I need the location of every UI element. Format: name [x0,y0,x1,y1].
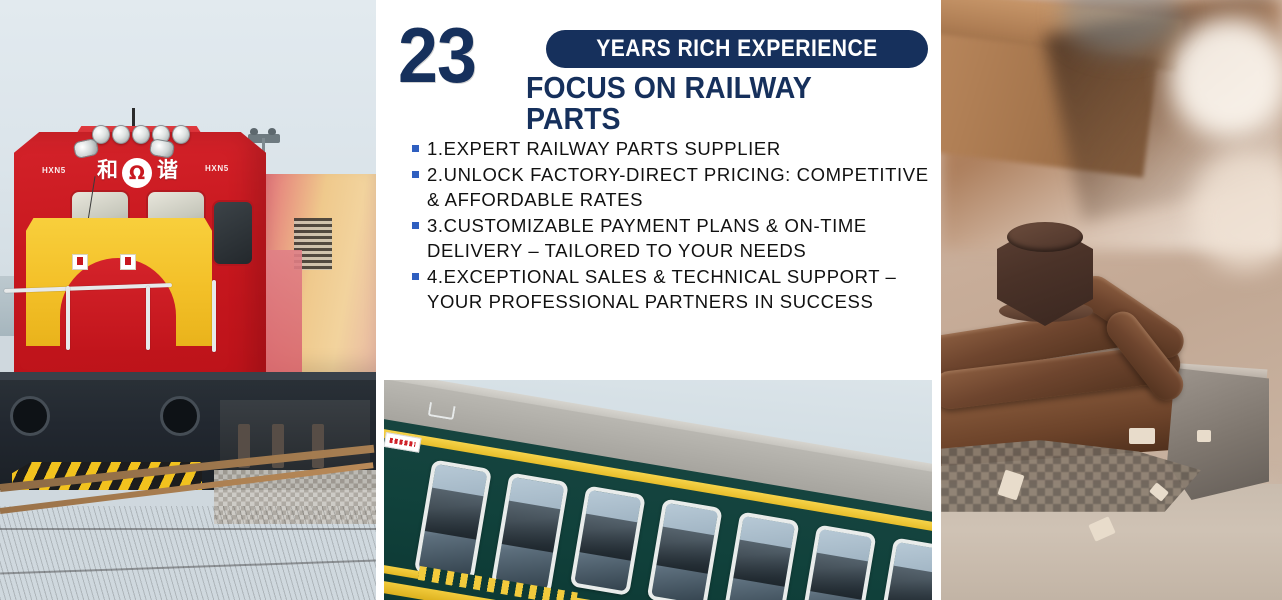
page-subtitle: FOCUS ON RAILWAY PARTS [526,72,894,134]
carriage-window [491,472,569,594]
green-passenger-carriage-photo [384,380,932,600]
unit-number-right: HXN5 [205,164,229,173]
headlight-icon [172,125,190,144]
carriage-window [724,511,800,600]
headlight-icon [112,125,130,144]
handrail-vertical-left [66,286,70,350]
list-item-label: 2.UNLOCK FACTORY-DIRECT PRICING: COMPETI… [427,162,934,212]
list-item: 1.EXPERT RAILWAY PARTS SUPPLIER [412,136,934,161]
ballast-stones [941,440,1201,512]
warning-decal-right [120,254,136,270]
livery-chinese-char-right: 谐 [157,160,178,181]
headlight-cluster [92,124,190,144]
list-item: 3.CUSTOMIZABLE PAYMENT PLANS & ON-TIME D… [412,213,934,263]
platform-seam [0,559,376,574]
cab-side-window [212,200,254,266]
underframe-ledge [0,372,376,380]
bullet-square-icon [412,273,419,280]
years-experience-badge: YEARS RICH EXPERIENCE [546,30,928,68]
list-item-label: 4.EXCEPTIONAL SALES & TECHNICAL SUPPORT … [427,264,934,314]
bullet-square-icon [412,222,419,229]
rail-fastener-closeup-photo [941,0,1282,600]
stone-chip [1129,428,1155,444]
china-railway-emblem-icon: Ω [122,158,152,188]
stone-chip [1197,430,1211,442]
warning-decal-left [72,254,88,270]
carriage-window [414,459,492,581]
trailing-unit-red-panel [264,250,302,374]
carriage-window [647,498,723,600]
carriage-window [877,537,932,600]
years-experience-label: YEARS RICH EXPERIENCE [596,37,878,61]
bokeh-highlight [1169,18,1282,138]
carriage-window [570,485,646,596]
years-number: 23 [398,16,476,94]
headlight-icon [132,125,150,144]
locomotive-photo: 和 Ω 谐 HXN5 HXN5 [0,0,376,600]
mast-lamp-left-icon [250,128,258,135]
bullet-square-icon [412,145,419,152]
benefits-list: 1.EXPERT RAILWAY PARTS SUPPLIER 2.UNLOCK… [412,136,934,315]
list-item-label: 3.CUSTOMIZABLE PAYMENT PLANS & ON-TIME D… [427,213,934,263]
unit-number-left: HXN5 [42,166,66,175]
bolt-head-top [1007,222,1083,252]
platform-seam [0,528,376,530]
bullet-square-icon [412,171,419,178]
list-item-label: 1.EXPERT RAILWAY PARTS SUPPLIER [427,136,781,161]
railway-parts-promo-banner: 和 Ω 谐 HXN5 HXN5 [0,0,1282,600]
content-panel: 23 YEARS RICH EXPERIENCE FOCUS ON RAILWA… [376,0,940,600]
concrete-platform-surface [0,506,376,600]
handrail-vertical-right [212,280,216,352]
mast-lamp-right-icon [268,128,276,135]
wheel-cutout-right [160,396,200,436]
carriage-window [800,524,876,600]
livery-chinese-char-left: 和 [97,160,118,181]
wheel-cutout-left [10,396,50,436]
list-item: 2.UNLOCK FACTORY-DIRECT PRICING: COMPETI… [412,162,934,212]
list-item: 4.EXCEPTIONAL SALES & TECHNICAL SUPPORT … [412,264,934,314]
handrail-vertical-mid [146,286,150,350]
